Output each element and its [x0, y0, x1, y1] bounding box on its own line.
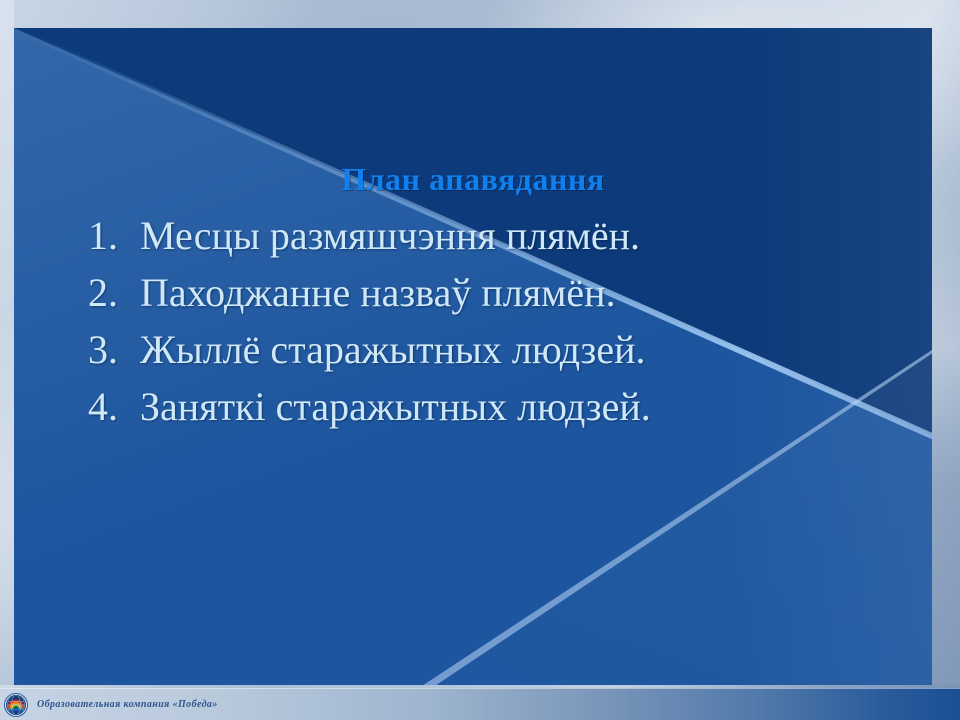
plan-list: 1. Месцы размяшчэння плямён. 2. Паходжан…: [14, 207, 932, 435]
list-item: 3. Жыллё старажытных людзей.: [14, 321, 932, 378]
footer-branding-strip: Образовательная компания «Победа»: [0, 688, 960, 720]
list-item-number: 1.: [88, 207, 140, 264]
list-item: 4. Заняткі старажытных людзей.: [14, 378, 932, 435]
list-item-number: 2.: [88, 264, 140, 321]
rainbow-globe-icon: [3, 692, 29, 718]
footer-brand-text: Образовательная компания «Победа»: [37, 699, 218, 710]
slide-title: План апавядання: [14, 160, 932, 198]
list-item-label: Жыллё старажытных людзей.: [140, 321, 646, 378]
slide-content-panel: План апавядання 1. Месцы размяшчэння пля…: [14, 28, 932, 685]
left-edge-band: [0, 0, 14, 689]
list-item-number: 4.: [88, 378, 140, 435]
list-item-label: Паходжанне назваў плямён.: [140, 264, 616, 321]
presentation-slide: План апавядання 1. Месцы размяшчэння пля…: [0, 0, 960, 720]
list-item-label: Заняткі старажытных людзей.: [140, 378, 651, 435]
list-item: 1. Месцы размяшчэння плямён.: [14, 207, 932, 264]
list-item: 2. Паходжанне назваў плямён.: [14, 264, 932, 321]
list-item-label: Месцы размяшчэння плямён.: [140, 207, 640, 264]
list-item-number: 3.: [88, 321, 140, 378]
slide-body: План апавядання 1. Месцы размяшчэння пля…: [14, 160, 932, 435]
